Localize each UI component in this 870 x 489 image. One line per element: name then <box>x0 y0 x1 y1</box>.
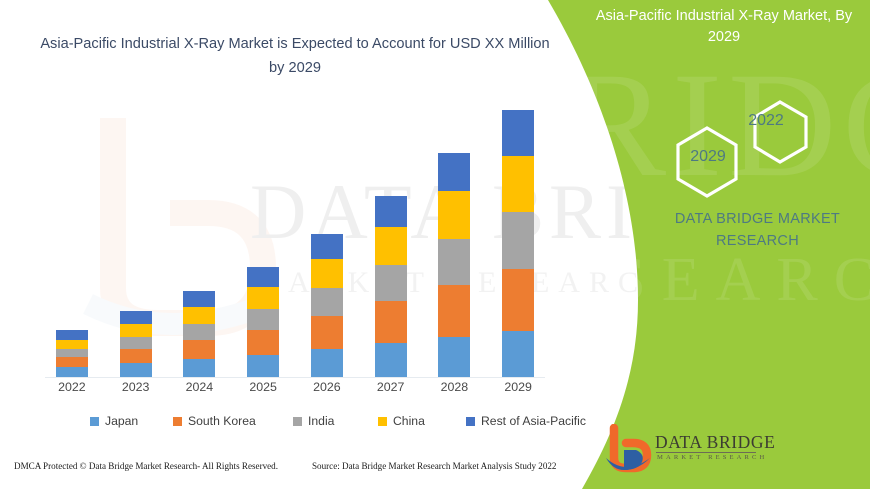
panel-brand-line1: DATA BRIDGE MARKET <box>650 208 865 230</box>
bar-segment-china-2027[interactable] <box>375 227 407 264</box>
bar-segment-india-2022[interactable] <box>56 349 88 357</box>
bar-segment-rest-of-asia-pacific-2029[interactable] <box>502 110 534 156</box>
svg-text:RESEARCH: RESEARCH <box>520 246 870 314</box>
bar-segment-japan-2022[interactable] <box>56 367 88 377</box>
data-bridge-logo[interactable]: DATA BRIDGE MARKET RESEARCH <box>600 424 800 480</box>
legend-label: Rest of Asia-Pacific <box>481 414 586 428</box>
chart-legend: JapanSouth KoreaIndiaChinaRest of Asia-P… <box>40 414 550 438</box>
legend-swatch-icon <box>466 417 475 426</box>
bar-segment-south-korea-2027[interactable] <box>375 301 407 343</box>
bar-segment-rest-of-asia-pacific-2026[interactable] <box>311 234 343 259</box>
legend-label: Japan <box>105 414 138 428</box>
hexagon-2022-label: 2022 <box>736 112 796 130</box>
legend-label: South Korea <box>188 414 256 428</box>
bar-segment-china-2023[interactable] <box>120 324 152 337</box>
bar-2028[interactable] <box>438 153 470 377</box>
bar-2027[interactable] <box>375 196 407 377</box>
bar-2022[interactable] <box>56 330 88 377</box>
bar-segment-rest-of-asia-pacific-2022[interactable] <box>56 330 88 340</box>
bar-segment-rest-of-asia-pacific-2023[interactable] <box>120 311 152 324</box>
bar-segment-india-2029[interactable] <box>502 212 534 268</box>
bar-segment-china-2025[interactable] <box>247 287 279 309</box>
hexagon-group <box>660 92 820 202</box>
bar-segment-japan-2023[interactable] <box>120 363 152 377</box>
bar-2029[interactable] <box>502 110 534 377</box>
bar-segment-japan-2029[interactable] <box>502 331 534 377</box>
bar-segment-south-korea-2029[interactable] <box>502 269 534 331</box>
legend-label: China <box>393 414 425 428</box>
x-axis-line <box>45 377 545 378</box>
footer-copyright: DMCA Protected © Data Bridge Market Rese… <box>14 461 278 471</box>
legend-label: India <box>308 414 334 428</box>
logo-divider <box>656 452 756 453</box>
bar-segment-rest-of-asia-pacific-2028[interactable] <box>438 153 470 191</box>
legend-item-china[interactable]: China <box>378 414 425 428</box>
bar-segment-india-2024[interactable] <box>183 324 215 340</box>
page-title: Asia-Pacific Industrial X-Ray Market is … <box>40 32 550 80</box>
bar-segment-china-2026[interactable] <box>311 259 343 288</box>
bar-segment-rest-of-asia-pacific-2025[interactable] <box>247 267 279 287</box>
legend-swatch-icon <box>293 417 302 426</box>
bar-2025[interactable] <box>247 267 279 377</box>
panel-brand-text: DATA BRIDGE MARKET RESEARCH <box>650 208 865 252</box>
x-tick-2025: 2025 <box>233 380 293 394</box>
x-tick-2022: 2022 <box>42 380 102 394</box>
logo-name: DATA BRIDGE <box>655 432 775 453</box>
bar-segment-india-2025[interactable] <box>247 309 279 330</box>
legend-swatch-icon <box>90 417 99 426</box>
infographic-canvas: DATA BRIDGE MARKET RESEARCH BRIDGE RESEA… <box>0 0 870 489</box>
bar-segment-china-2028[interactable] <box>438 191 470 238</box>
bar-segment-south-korea-2024[interactable] <box>183 340 215 359</box>
bar-segment-south-korea-2023[interactable] <box>120 349 152 363</box>
hexagon-2022-outline <box>755 102 806 162</box>
panel-title: Asia-Pacific Industrial X-Ray Market, By… <box>588 6 860 48</box>
bar-2026[interactable] <box>311 234 343 377</box>
bar-segment-south-korea-2026[interactable] <box>311 316 343 349</box>
bar-segment-rest-of-asia-pacific-2027[interactable] <box>375 196 407 227</box>
x-tick-2023: 2023 <box>106 380 166 394</box>
chart-plot-area <box>40 110 550 378</box>
bar-segment-south-korea-2022[interactable] <box>56 357 88 367</box>
bar-segment-china-2022[interactable] <box>56 340 88 349</box>
hexagon-2029-label: 2029 <box>677 148 739 166</box>
x-tick-2024: 2024 <box>169 380 229 394</box>
bar-segment-rest-of-asia-pacific-2024[interactable] <box>183 291 215 307</box>
bar-segment-south-korea-2025[interactable] <box>247 330 279 355</box>
bar-segment-china-2029[interactable] <box>502 156 534 212</box>
logo-tagline: MARKET RESEARCH <box>657 454 767 461</box>
legend-swatch-icon <box>173 417 182 426</box>
x-tick-2029: 2029 <box>488 380 548 394</box>
bar-segment-japan-2027[interactable] <box>375 343 407 377</box>
legend-item-india[interactable]: India <box>293 414 334 428</box>
footer-source: Source: Data Bridge Market Research Mark… <box>312 461 556 471</box>
bar-segment-japan-2028[interactable] <box>438 337 470 377</box>
x-tick-2026: 2026 <box>297 380 357 394</box>
bar-segment-japan-2024[interactable] <box>183 359 215 377</box>
bar-segment-india-2028[interactable] <box>438 239 470 285</box>
bar-segment-india-2026[interactable] <box>311 288 343 316</box>
x-tick-2028: 2028 <box>424 380 484 394</box>
x-tick-2027: 2027 <box>361 380 421 394</box>
bar-segment-india-2027[interactable] <box>375 265 407 301</box>
stacked-bar-chart <box>40 110 550 378</box>
bar-segment-japan-2025[interactable] <box>247 355 279 377</box>
bar-2023[interactable] <box>120 311 152 377</box>
panel-brand-line2: RESEARCH <box>650 230 865 252</box>
legend-item-japan[interactable]: Japan <box>90 414 138 428</box>
bar-segment-japan-2026[interactable] <box>311 349 343 377</box>
legend-item-rest-of-asia-pacific[interactable]: Rest of Asia-Pacific <box>466 414 586 428</box>
bar-2024[interactable] <box>183 291 215 377</box>
x-axis-tick-labels: 20222023202420252026202720282029 <box>40 380 550 404</box>
bar-segment-india-2023[interactable] <box>120 337 152 349</box>
legend-swatch-icon <box>378 417 387 426</box>
bar-segment-china-2024[interactable] <box>183 307 215 324</box>
legend-item-south-korea[interactable]: South Korea <box>173 414 256 428</box>
bar-segment-south-korea-2028[interactable] <box>438 285 470 337</box>
